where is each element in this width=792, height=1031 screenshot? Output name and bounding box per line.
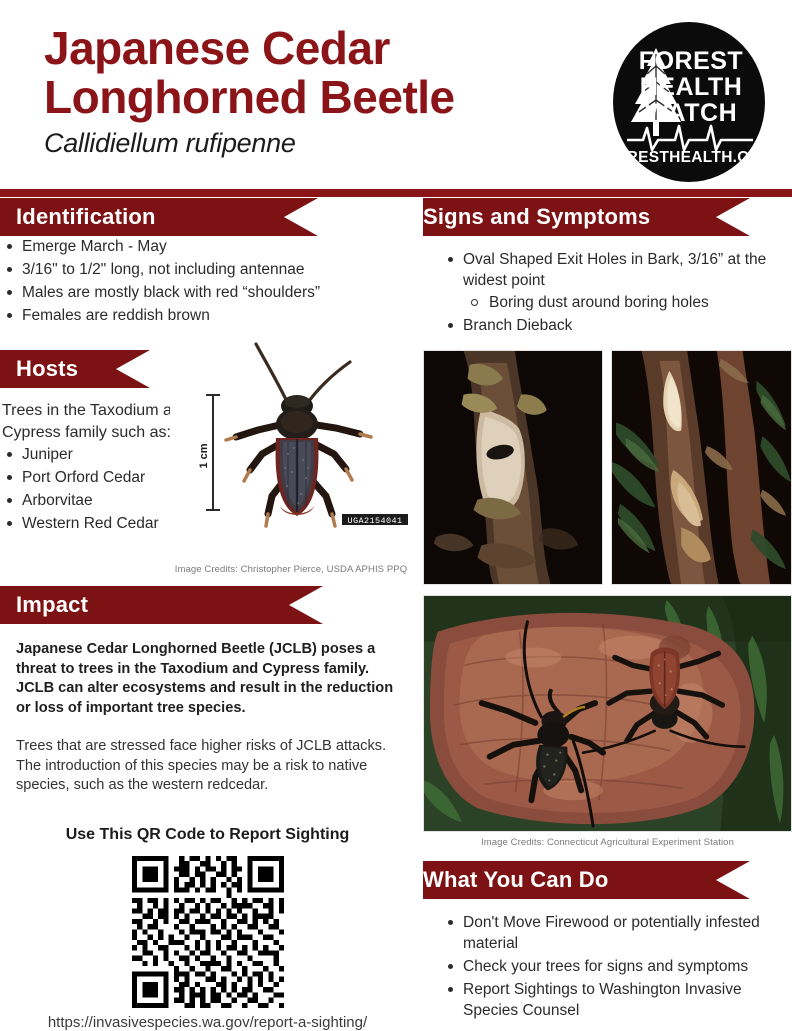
sub-list-item: Boring dust around boring holes (463, 292, 792, 313)
qr-code-image[interactable] (132, 856, 284, 1008)
header-divider (0, 189, 792, 197)
qr-code[interactable] (0, 856, 415, 1008)
scale-bar-label: 1 cm (198, 443, 210, 468)
list-item: Oval Shaped Exit Holes in Bark, 3/16” at… (441, 249, 792, 313)
scientific-name: Callidiellum rufipenne (44, 128, 604, 158)
section-banner-what-you-can-do: What You Can Do (423, 861, 750, 899)
heading-what-you-can-do: What You Can Do (423, 869, 609, 891)
qr-block: Use This QR Code to Report Sighting (0, 826, 415, 1031)
list-item: Don't Move Firewood or potentially infes… (441, 912, 792, 954)
heading-signs-and-symptoms: Signs and Symptoms (423, 206, 650, 228)
section-banner-identification: Identification (0, 198, 318, 236)
banner-notch (716, 198, 750, 236)
list-item: Emerge March - May (0, 236, 415, 257)
logo-line-3: WATCH (645, 99, 737, 127)
list-item: Check your trees for signs and symptoms (441, 956, 792, 977)
photo-exit-hole-bark (423, 350, 603, 585)
fact-sheet-page: Japanese Cedar Longhorned Beetle Callidi… (0, 0, 792, 1025)
banner-notch (716, 861, 750, 899)
list-item: Males are mostly black with red “shoulde… (0, 282, 415, 303)
photo-bark-damage-foliage (611, 350, 792, 585)
photo-beetles-on-bark (423, 595, 792, 832)
logo-line-1: FOREST (639, 47, 743, 75)
banner-notch (284, 198, 318, 236)
section-banner-impact: Impact (0, 586, 323, 624)
heading-impact: Impact (16, 594, 88, 616)
bark-damage-image (612, 351, 791, 584)
list-item: Report Sightings to Washington Invasive … (441, 979, 792, 1021)
page-title-line-2: Longhorned Beetle (44, 73, 604, 122)
list-item: 3/16" to 1/2" long, not including antenn… (0, 259, 415, 280)
beetles-on-bark-credit: Image Credits: Connecticut Agricultural … (423, 837, 792, 848)
beetles-on-bark-image (424, 596, 791, 831)
signs-sub-list: Boring dust around boring holes (463, 292, 792, 313)
banner-notch (289, 586, 323, 624)
logo-line-2: HEALTH (640, 73, 743, 101)
logo-graphic: FOREST HEALTH WATCH FORESTHEALTH.ORG (613, 22, 765, 182)
exit-hole-image (424, 351, 602, 584)
banner-notch (116, 350, 150, 388)
logo-url: FORESTHEALTH.ORG (613, 149, 765, 166)
list-item: Females are reddish brown (0, 305, 415, 326)
section-banner-signs: Signs and Symptoms (423, 198, 750, 236)
beetle-specimen-figure: 1 cm (170, 338, 410, 563)
beetle-specimen-photo: 1 cm (170, 338, 410, 538)
beetle-specimen-credit: Image Credits: Christopher Pierce, USDA … (170, 564, 412, 575)
right-column: Signs and Symptoms Oval Shaped Exit Hole… (423, 198, 792, 1023)
heartbeat-icon (627, 126, 753, 150)
report-sighting-url[interactable]: https://invasivespecies.wa.gov/report-a-… (0, 1014, 415, 1031)
section-banner-hosts: Hosts (0, 350, 150, 388)
what-you-can-do-list: Don't Move Firewood or potentially infes… (423, 912, 792, 1021)
forest-health-watch-logo: FOREST HEALTH WATCH FORESTHEALTH.ORG (613, 22, 765, 182)
left-column: Identification Emerge March - May 3/16" … (0, 198, 415, 1031)
page-title-line-1: Japanese Cedar (44, 24, 604, 73)
page-header: Japanese Cedar Longhorned Beetle Callidi… (0, 0, 792, 190)
impact-paragraph-bold: Japanese Cedar Longhorned Beetle (JCLB) … (16, 640, 397, 718)
image-watermark: UGA2154041 (347, 516, 402, 526)
heading-identification: Identification (16, 206, 156, 228)
hosts-intro: Trees in the Taxodium and Cypress family… (0, 400, 197, 444)
title-block: Japanese Cedar Longhorned Beetle Callidi… (44, 24, 604, 158)
list-item-label: Oval Shaped Exit Holes in Bark, 3/16” at… (463, 251, 766, 289)
heading-hosts: Hosts (16, 358, 78, 380)
list-item: Branch Dieback (441, 315, 792, 336)
signs-list: Oval Shaped Exit Holes in Bark, 3/16” at… (423, 249, 792, 336)
impact-paragraph-regular: Trees that are stressed face higher risk… (16, 737, 397, 796)
qr-title: Use This QR Code to Report Sighting (0, 826, 415, 844)
identification-list: Emerge March - May 3/16" to 1/2" long, n… (0, 236, 415, 326)
